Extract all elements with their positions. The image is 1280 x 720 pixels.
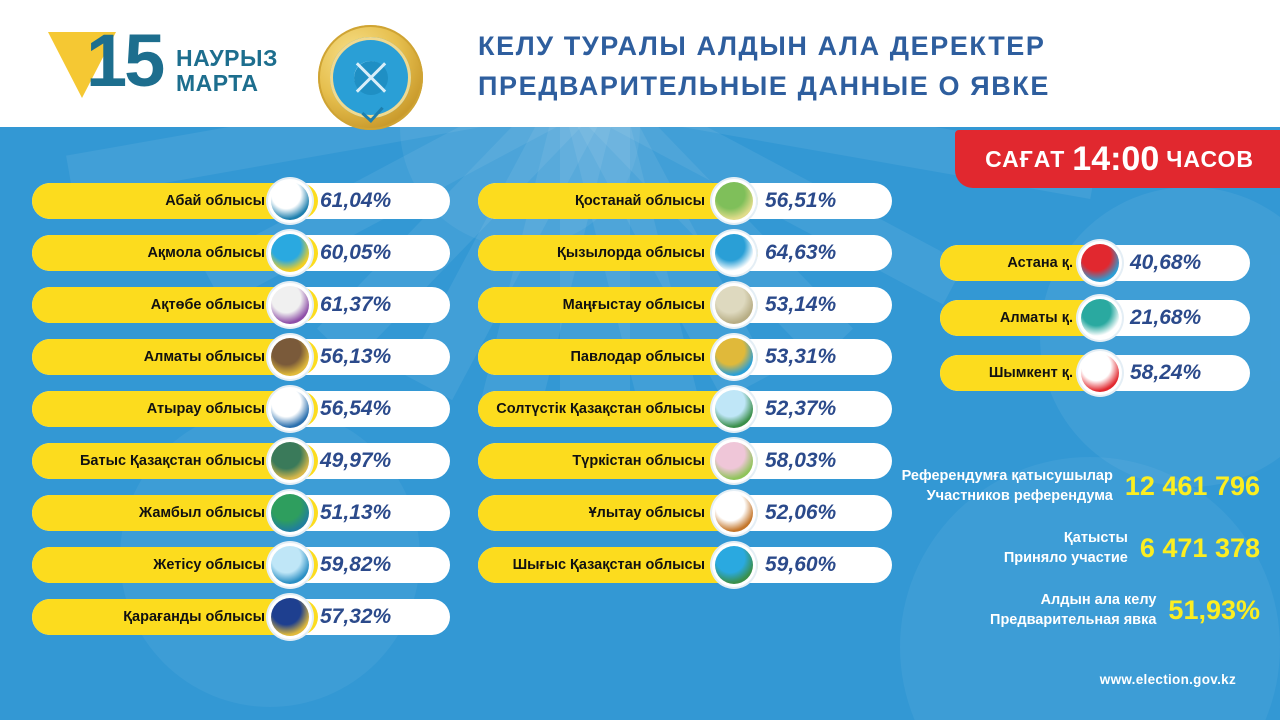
header-bar: 15 НАУРЫЗ МАРТА КЕЛУ ТУРАЛЫ АЛДЫН АЛА ДЕ… <box>0 0 1280 127</box>
time-suffix-ru: ЧАСОВ <box>1166 146 1254 173</box>
summary-statistics: Референдумға қатысушылар Участников рефе… <box>890 466 1260 652</box>
emblem-art <box>271 286 309 324</box>
region-name: Ақтөбе облысы <box>60 287 265 323</box>
turnout-percentage: 57,32% <box>320 599 391 635</box>
footer-url[interactable]: www.election.gov.kz <box>1100 672 1236 687</box>
region-name: Қостанай облысы <box>495 183 705 219</box>
time-badge: САҒАТ 14:00 ЧАСОВ <box>955 130 1280 188</box>
emblem-art <box>715 442 753 480</box>
result-row: Жетісу облысы59,82% <box>32 547 450 583</box>
emblem-art <box>715 390 753 428</box>
turnout-percentage: 59,60% <box>765 547 836 583</box>
stat-labels: Референдумға қатысушылар Участников рефе… <box>902 466 1113 506</box>
stat-row: Қатысты Приняло участие 6 471 378 <box>890 528 1260 568</box>
region-name: Жамбыл облысы <box>60 495 265 531</box>
atyrau-emblem <box>268 387 312 431</box>
region-name: Қарағанды облысы <box>60 599 265 635</box>
region-name: Түркістан облысы <box>495 443 705 479</box>
mangystau-emblem <box>712 283 756 327</box>
almaty-oblysy-emblem <box>268 335 312 379</box>
turnout-percentage: 52,06% <box>765 495 836 531</box>
emblem-art <box>271 182 309 220</box>
stat-row: Референдумға қатысушылар Участников рефе… <box>890 466 1260 506</box>
stat-labels: Қатысты Приняло участие <box>1004 528 1128 568</box>
emblem-art <box>271 598 309 636</box>
emblem-art <box>271 546 309 584</box>
shygys-qazaqstan-emblem <box>712 543 756 587</box>
stat-label-kk: Референдумға қатысушылар <box>902 466 1113 486</box>
result-row: Қостанай облысы56,51% <box>478 183 892 219</box>
time-value: 14:00 <box>1072 140 1159 179</box>
logo-number: 15 <box>86 24 162 98</box>
turnout-percentage: 40,68% <box>1130 245 1201 281</box>
shymkent-emblem <box>1078 351 1122 395</box>
stat-value: 6 471 378 <box>1140 533 1260 564</box>
seal-ornament <box>354 61 388 95</box>
region-name: Шымкент қ. <box>955 355 1073 391</box>
turnout-percentage: 64,63% <box>765 235 836 271</box>
ulytau-emblem <box>712 491 756 535</box>
soltustik-qazaqstan-emblem <box>712 387 756 431</box>
turnout-percentage: 51,13% <box>320 495 391 531</box>
result-row: Солтүстік Қазақстан облысы52,37% <box>478 391 892 427</box>
region-name: Павлодар облысы <box>495 339 705 375</box>
zhetisu-emblem <box>268 543 312 587</box>
stat-label-kk: Қатысты <box>1004 528 1128 548</box>
infographic-poster: 15 НАУРЫЗ МАРТА КЕЛУ ТУРАЛЫ АЛДЫН АЛА ДЕ… <box>0 0 1280 720</box>
result-row: Алматы қ.21,68% <box>940 300 1250 336</box>
emblem-art <box>271 338 309 376</box>
turnout-percentage: 59,82% <box>320 547 391 583</box>
region-name: Алматы қ. <box>955 300 1073 336</box>
turnout-percentage: 21,68% <box>1130 300 1201 336</box>
region-name: Астана қ. <box>955 245 1073 281</box>
stat-label-ru: Участников референдума <box>902 486 1113 506</box>
emblem-art <box>271 442 309 480</box>
turkistan-emblem <box>712 439 756 483</box>
emblem-art <box>271 390 309 428</box>
batys-qazaqstan-emblem <box>268 439 312 483</box>
turnout-percentage: 56,13% <box>320 339 391 375</box>
emblem-art <box>1081 244 1119 282</box>
stat-labels: Алдын ала келу Предварительная явка <box>990 590 1156 630</box>
stat-label-ru: Предварительная явка <box>990 610 1156 630</box>
region-name: Ақмола облысы <box>60 235 265 271</box>
region-name: Алматы облысы <box>60 339 265 375</box>
result-row: Қызылорда облысы64,63% <box>478 235 892 271</box>
result-row: Қарағанды облысы57,32% <box>32 599 450 635</box>
seal-inner-ring <box>354 61 387 94</box>
anniversary-logo: 15 НАУРЫЗ МАРТА <box>48 24 263 106</box>
result-row: Шығыс Қазақстан облысы59,60% <box>478 547 892 583</box>
region-name: Маңғыстау облысы <box>495 287 705 323</box>
result-row: Павлодар облысы53,31% <box>478 339 892 375</box>
page-title: КЕЛУ ТУРАЛЫ АЛДЫН АЛА ДЕРЕКТЕР ПРЕДВАРИТ… <box>478 26 1238 106</box>
almaty-city-emblem <box>1078 296 1122 340</box>
emblem-art <box>715 546 753 584</box>
result-row: Астана қ.40,68% <box>940 245 1250 281</box>
region-name: Ұлытау облысы <box>495 495 705 531</box>
logo-month-ru: МАРТА <box>176 71 278 96</box>
astana-emblem <box>1078 241 1122 285</box>
title-kazakh: КЕЛУ ТУРАЛЫ АЛДЫН АЛА ДЕРЕКТЕР <box>478 26 1238 66</box>
cec-seal-icon <box>318 25 423 130</box>
aqtobe-emblem <box>268 283 312 327</box>
logo-words: НАУРЫЗ МАРТА <box>176 46 278 96</box>
result-row: Түркістан облысы58,03% <box>478 443 892 479</box>
qostanai-emblem <box>712 179 756 223</box>
turnout-percentage: 61,37% <box>320 287 391 323</box>
turnout-percentage: 53,31% <box>765 339 836 375</box>
logo-month-kk: НАУРЫЗ <box>176 46 278 71</box>
emblem-art <box>715 494 753 532</box>
abai-emblem <box>268 179 312 223</box>
result-row: Жамбыл облысы51,13% <box>32 495 450 531</box>
stat-value: 12 461 796 <box>1125 471 1260 502</box>
result-row: Ұлытау облысы52,06% <box>478 495 892 531</box>
turnout-percentage: 53,14% <box>765 287 836 323</box>
stat-row: Алдын ала келу Предварительная явка 51,9… <box>890 590 1260 630</box>
turnout-percentage: 49,97% <box>320 443 391 479</box>
region-name: Солтүстік Қазақстан облысы <box>495 391 705 427</box>
background-circle <box>1040 187 1280 487</box>
turnout-percentage: 56,54% <box>320 391 391 427</box>
result-row: Ақтөбе облысы61,37% <box>32 287 450 323</box>
emblem-art <box>1081 299 1119 337</box>
region-name: Абай облысы <box>60 183 265 219</box>
emblem-art <box>1081 354 1119 392</box>
qyzylorda-emblem <box>712 231 756 275</box>
result-row: Ақмола облысы60,05% <box>32 235 450 271</box>
region-name: Шығыс Қазақстан облысы <box>495 547 705 583</box>
zhambyl-emblem <box>268 491 312 535</box>
stat-label-kk: Алдын ала келу <box>990 590 1156 610</box>
region-name: Атырау облысы <box>60 391 265 427</box>
emblem-art <box>715 286 753 324</box>
result-row: Маңғыстау облысы53,14% <box>478 287 892 323</box>
emblem-art <box>271 234 309 272</box>
region-name: Қызылорда облысы <box>495 235 705 271</box>
aqmola-emblem <box>268 231 312 275</box>
result-row: Абай облысы61,04% <box>32 183 450 219</box>
turnout-percentage: 58,03% <box>765 443 836 479</box>
time-prefix-kk: САҒАТ <box>985 146 1065 173</box>
pavlodar-emblem <box>712 335 756 379</box>
qaragandy-emblem <box>268 595 312 639</box>
region-name: Батыс Қазақстан облысы <box>60 443 265 479</box>
emblem-art <box>715 338 753 376</box>
result-row: Батыс Қазақстан облысы49,97% <box>32 443 450 479</box>
turnout-percentage: 60,05% <box>320 235 391 271</box>
emblem-art <box>271 494 309 532</box>
stat-value: 51,93% <box>1168 595 1260 626</box>
region-name: Жетісу облысы <box>60 547 265 583</box>
turnout-percentage: 52,37% <box>765 391 836 427</box>
turnout-percentage: 56,51% <box>765 183 836 219</box>
title-russian: ПРЕДВАРИТЕЛЬНЫЕ ДАННЫЕ О ЯВКЕ <box>478 66 1238 106</box>
result-row: Алматы облысы56,13% <box>32 339 450 375</box>
result-row: Атырау облысы56,54% <box>32 391 450 427</box>
emblem-art <box>715 182 753 220</box>
stat-label-ru: Приняло участие <box>1004 548 1128 568</box>
emblem-art <box>715 234 753 272</box>
result-row: Шымкент қ.58,24% <box>940 355 1250 391</box>
turnout-percentage: 58,24% <box>1130 355 1201 391</box>
turnout-percentage: 61,04% <box>320 183 391 219</box>
